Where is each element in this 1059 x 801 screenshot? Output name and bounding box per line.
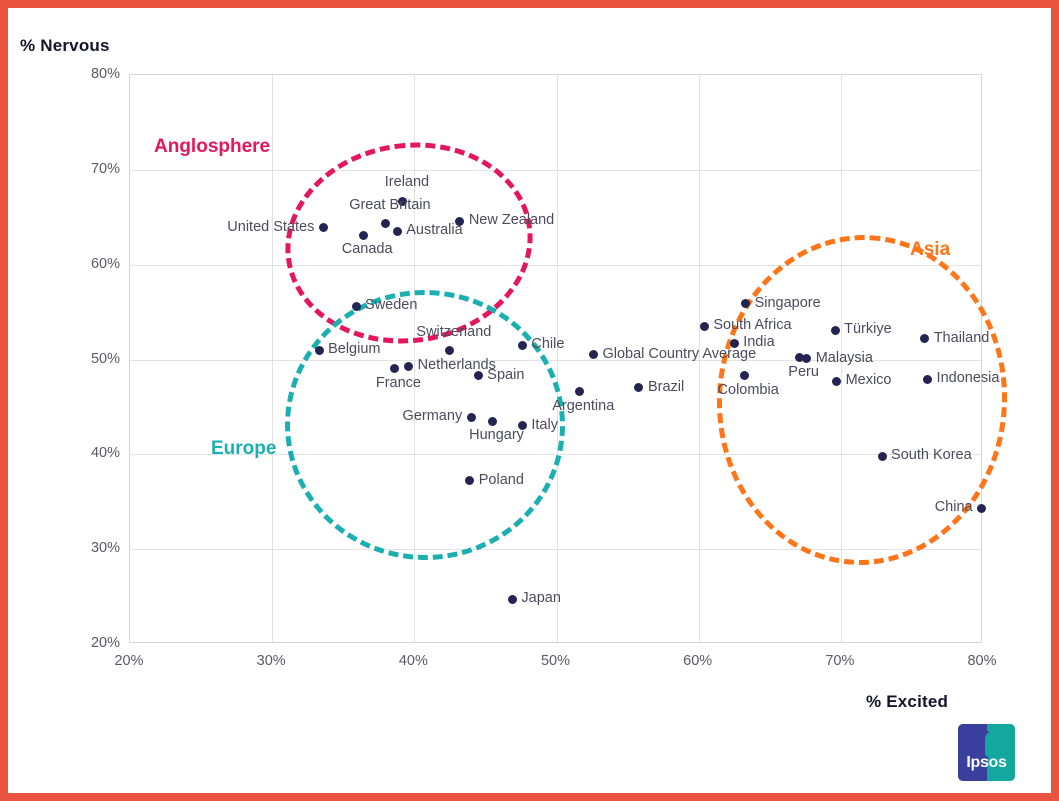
y-axis-tick-20: 20% [60,635,120,651]
data-point-south-korea[interactable] [878,452,887,461]
data-point-canada[interactable] [359,231,368,240]
x-axis-tick-30: 30% [231,653,311,669]
data-label-italy: Italy [531,417,558,433]
data-label-germany: Germany [403,408,463,424]
data-label-india: India [743,334,774,350]
x-axis-tick-60: 60% [658,653,738,669]
chart-page: % Nervous % Excited 20%30%40%50%60%70%80… [0,0,1059,801]
data-point-hungary[interactable] [488,417,497,426]
data-label-singapore: Singapore [755,295,821,311]
data-label-netherlands: Netherlands [418,357,496,373]
gridline-horizontal [130,170,981,171]
x-axis-title: % Excited [866,692,948,712]
data-label-indonesia: Indonesia [937,370,1000,386]
data-point-japan[interactable] [508,595,517,604]
data-point-australia[interactable] [393,227,402,236]
data-label-malaysia: Malaysia [816,350,873,366]
data-point-china[interactable] [977,504,986,513]
data-point-united-states[interactable] [319,223,328,232]
data-label-sweden: Sweden [365,297,417,313]
data-label-mexico: Mexico [846,372,892,388]
data-point-germany[interactable] [467,413,476,422]
y-axis-tick-labels: 20%30%40%50%60%70%80% [54,74,120,643]
plot-area: United StatesCanadaIrelandGreat BritainA… [129,74,982,643]
data-point-india[interactable] [730,339,739,348]
data-point-netherlands[interactable] [404,362,413,371]
data-label-china: China [935,499,973,515]
data-label-ireland: Ireland [385,174,429,190]
data-label-united-states: United States [227,219,314,235]
data-point-spain[interactable] [474,371,483,380]
data-label-peru: Peru [788,364,819,380]
x-axis-tick-80: 80% [942,653,1022,669]
data-point-belgium[interactable] [315,346,324,355]
data-point-south-africa[interactable] [700,322,709,331]
data-label-south-korea: South Korea [891,447,972,463]
data-point-global-country-average[interactable] [589,350,598,359]
gridline-vertical [272,75,273,642]
data-label-argentina: Argentina [552,398,614,414]
cluster-label-europe: Europe [211,438,276,460]
data-point-turkiye[interactable] [831,326,840,335]
data-label-australia: Australia [406,222,462,238]
data-point-indonesia[interactable] [923,375,932,384]
data-label-south-africa: South Africa [713,317,791,333]
x-axis-tick-labels: 20%30%40%50%60%70%80% [129,653,982,683]
data-label-colombia: Colombia [718,382,779,398]
data-label-spain: Spain [487,367,524,383]
data-label-france: France [376,375,421,391]
y-axis-tick-70: 70% [60,161,120,177]
ipsos-logo: Ipsos [958,724,1015,781]
y-axis-tick-30: 30% [60,540,120,556]
y-axis-tick-50: 50% [60,351,120,367]
data-label-chile: Chile [531,336,564,352]
data-label-belgium: Belgium [328,341,380,357]
cluster-ellipse-asia [709,228,1016,573]
x-axis-tick-70: 70% [800,653,880,669]
y-axis-tick-60: 60% [60,256,120,272]
data-label-canada: Canada [342,241,393,257]
chart-canvas: % Nervous % Excited 20%30%40%50%60%70%80… [8,8,1051,793]
data-label-great-britain: Great Britain [349,197,430,213]
data-point-colombia[interactable] [740,371,749,380]
data-label-global-country-average: Global Country Average [602,346,756,362]
data-label-turkiye: Türkiye [844,321,892,337]
data-point-new-zealand[interactable] [455,217,464,226]
x-axis-tick-40: 40% [373,653,453,669]
data-point-chile[interactable] [518,341,527,350]
data-label-switzerland: Switzerland [416,324,491,340]
data-label-new-zealand: New Zealand [469,212,554,228]
data-label-thailand: Thailand [934,330,990,346]
data-label-brazil: Brazil [648,379,684,395]
cluster-label-anglosphere: Anglosphere [154,136,270,158]
cluster-label-asia: Asia [910,239,950,261]
y-axis-title: % Nervous [20,36,110,56]
gridline-vertical [557,75,558,642]
x-axis-tick-20: 20% [89,653,169,669]
x-axis-tick-50: 50% [516,653,596,669]
data-point-argentina[interactable] [575,387,584,396]
data-point-mexico[interactable] [832,377,841,386]
data-label-poland: Poland [479,472,524,488]
y-axis-tick-80: 80% [60,66,120,82]
y-axis-tick-40: 40% [60,445,120,461]
data-label-japan: Japan [521,590,561,606]
data-point-brazil[interactable] [634,383,643,392]
logo-wordmark: Ipsos [958,754,1015,772]
data-point-sweden[interactable] [352,302,361,311]
data-label-hungary: Hungary [469,427,524,443]
